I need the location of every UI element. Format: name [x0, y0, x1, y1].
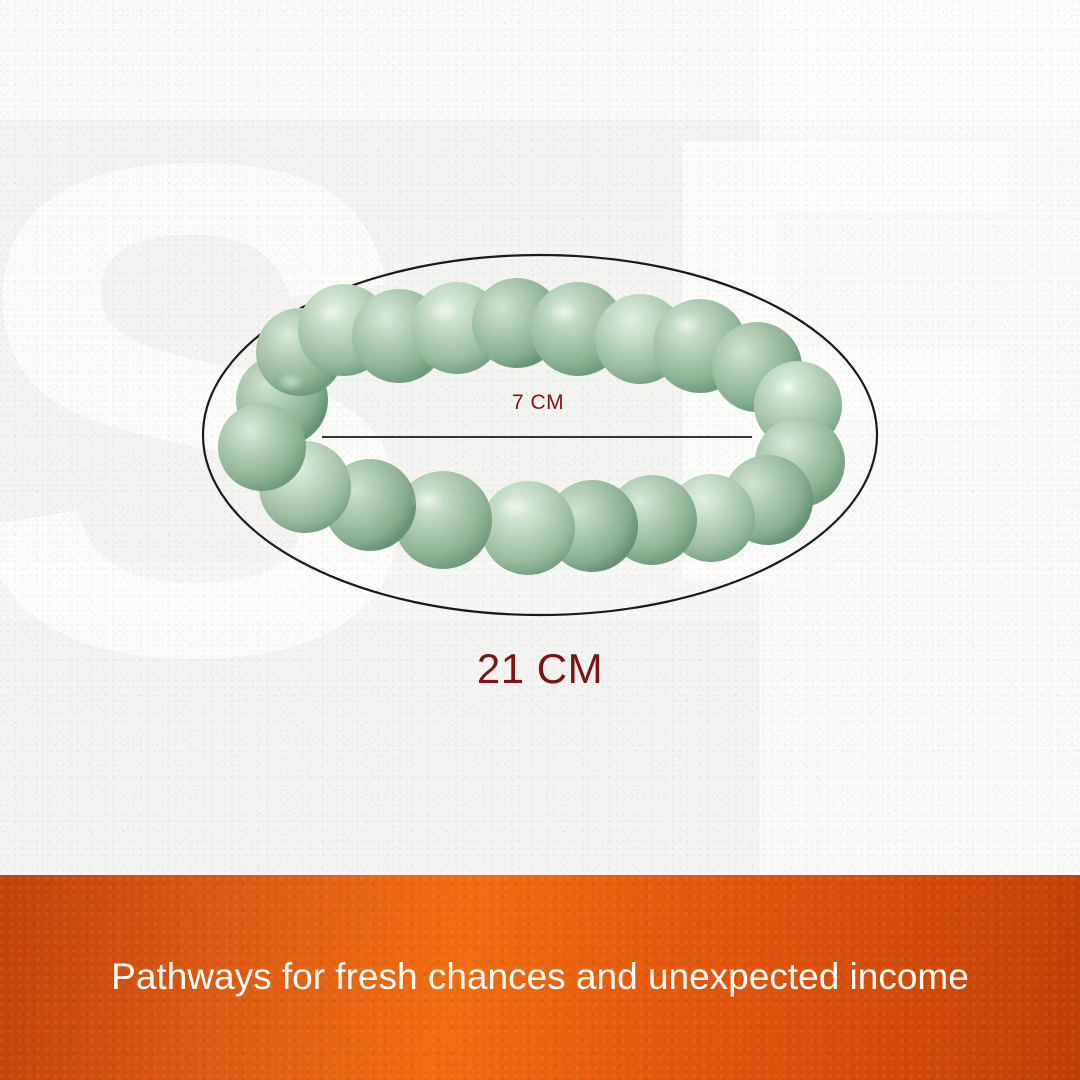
width-measure-label: 7 CM — [512, 391, 564, 415]
bracelet-illustration — [0, 0, 1080, 875]
product-image-canvas: S F — [0, 0, 1080, 1080]
length-measure-label: 21 CM — [0, 645, 1080, 693]
banner-caption-text: Pathways for fresh chances and unexpecte… — [90, 954, 990, 1000]
bead-group-upper — [236, 278, 842, 449]
product-diagram-area: 7 CM 21 CM — [0, 0, 1080, 875]
bottom-caption-banner: Pathways for fresh chances and unexpecte… — [0, 875, 1080, 1080]
